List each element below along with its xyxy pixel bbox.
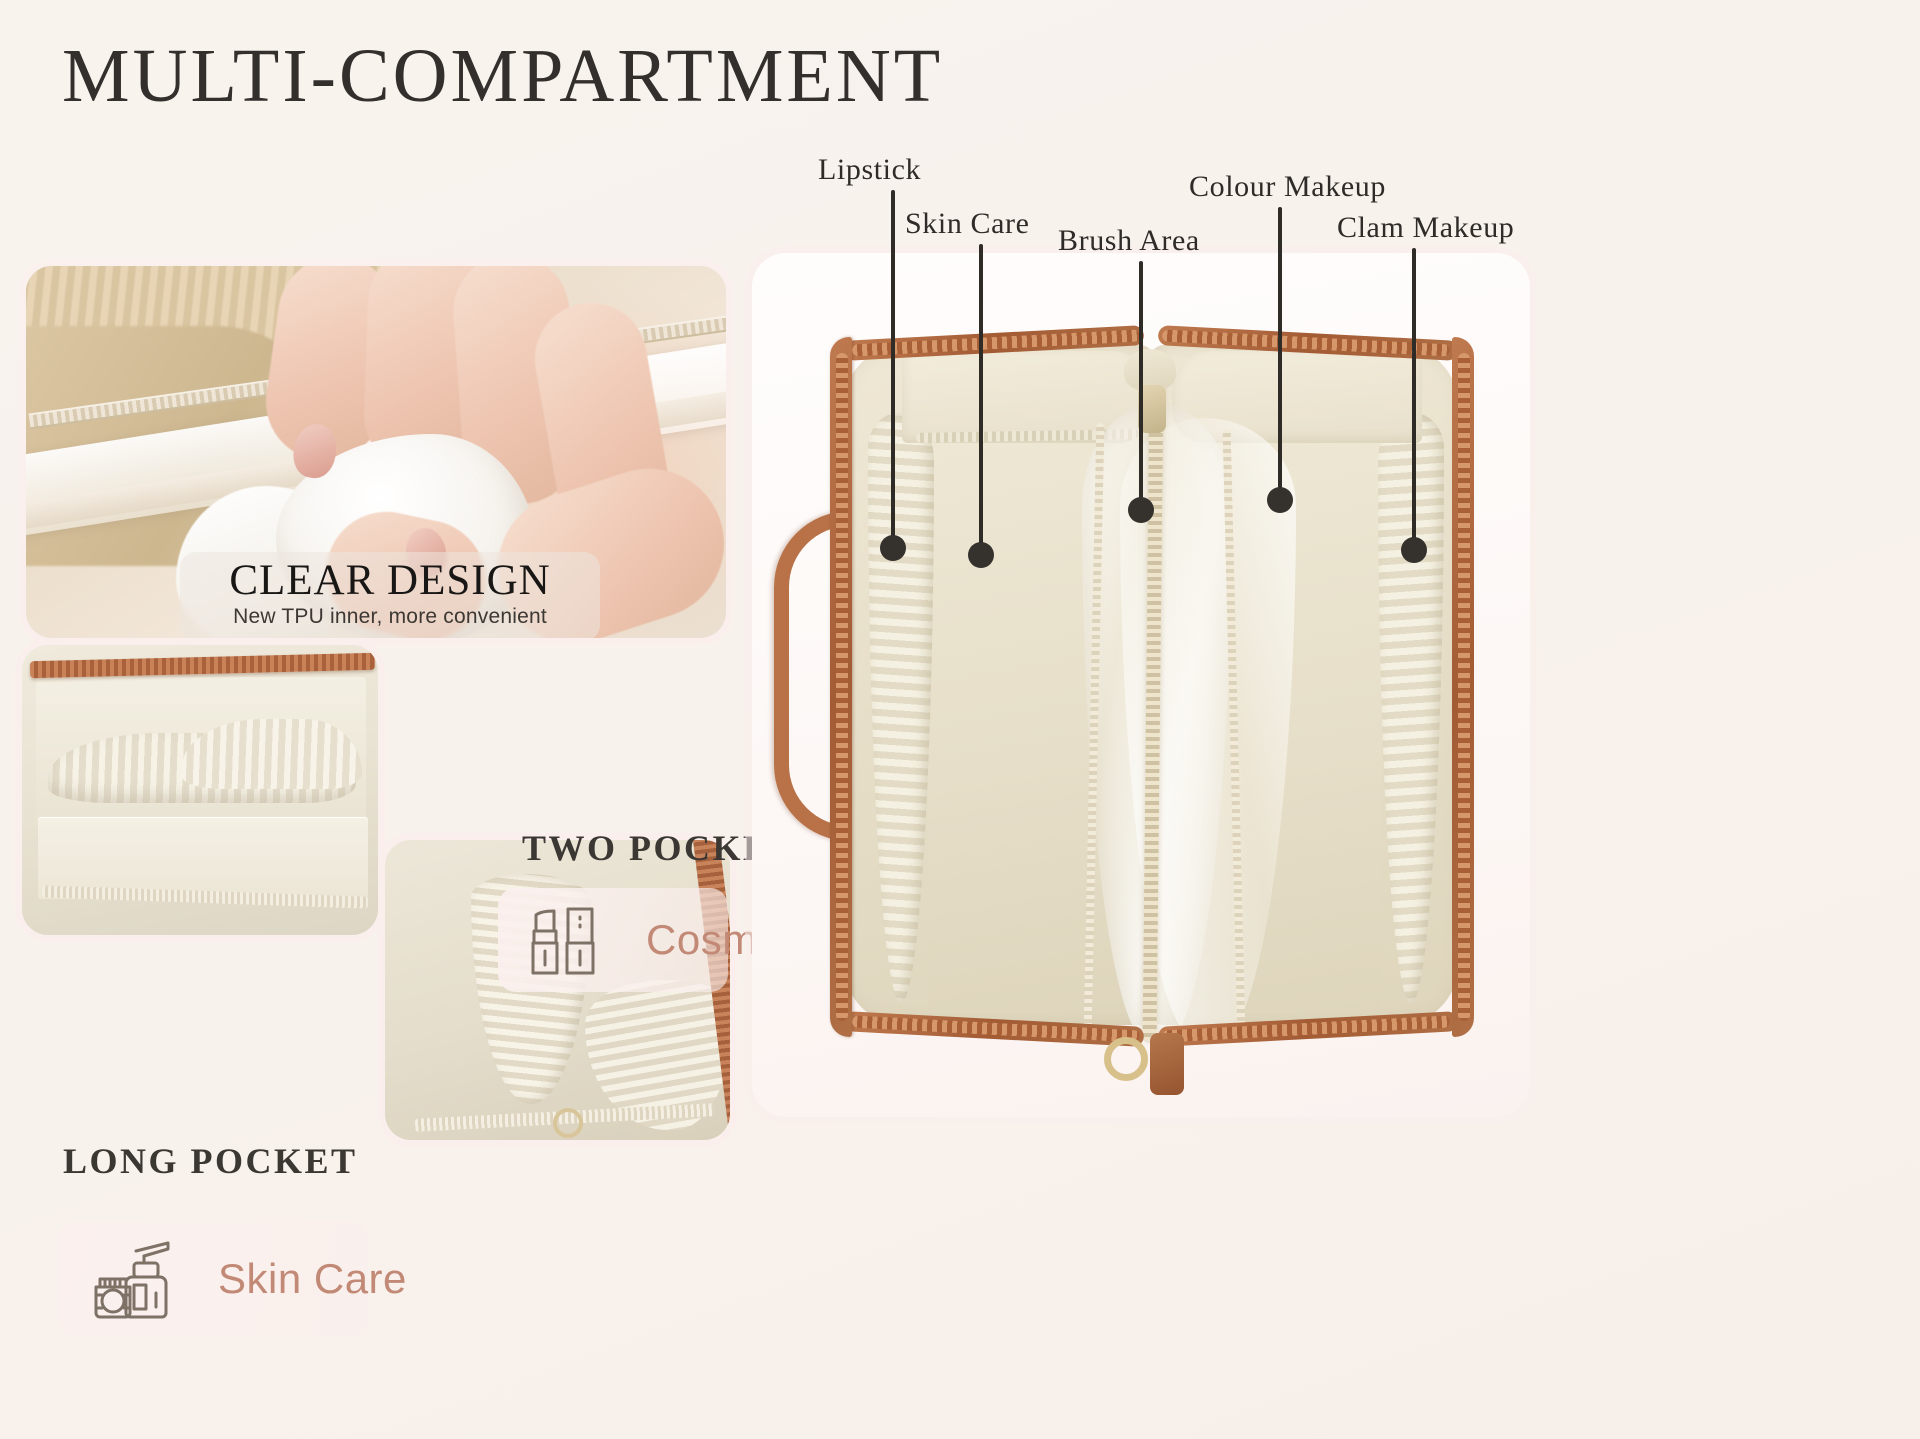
page-title: MULTI-COMPARTMENT xyxy=(62,38,943,114)
long-pocket-interior-photo xyxy=(22,645,378,935)
callout-lipstick-label: Lipstick xyxy=(818,153,921,187)
zipper-teeth-right xyxy=(1458,353,1470,1021)
callout-clam-makeup-label: Clam Makeup xyxy=(1337,211,1514,245)
brown-zipper-shape xyxy=(30,653,375,678)
skin-care-chip-label: Skin Care xyxy=(218,1255,407,1303)
clear-design-title: CLEAR DESIGN xyxy=(196,558,584,603)
callout-colour-makeup-dot xyxy=(1267,487,1293,513)
cosmetics-feature-chip: Cosmetics xyxy=(498,888,728,992)
zipper-teeth-left xyxy=(836,353,848,1021)
callout-clam-makeup-dot xyxy=(1401,537,1427,563)
lipstick-tube-icon xyxy=(520,901,606,979)
callout-brush-area-leader-line xyxy=(1139,261,1143,501)
callout-lipstick-leader-line xyxy=(891,190,895,550)
callout-skin-care-dot xyxy=(968,542,994,568)
zipper-pull-ring-shape xyxy=(553,1108,583,1138)
callout-clam-makeup-leader-line xyxy=(1412,248,1416,543)
zipper-pull-leather-tab xyxy=(1150,1033,1184,1095)
long-pocket-heading: LONG POCKET xyxy=(63,1140,358,1182)
callout-skin-care-label: Skin Care xyxy=(905,207,1030,241)
long-pocket-photo-card xyxy=(22,645,378,935)
clear-design-overlay: CLEAR DESIGN New TPU inner, more conveni… xyxy=(180,552,600,638)
callout-brush-area-dot xyxy=(1128,497,1154,523)
clear-design-photo-card: CLEAR DESIGN New TPU inner, more conveni… xyxy=(26,266,726,638)
callout-colour-makeup-label: Colour Makeup xyxy=(1189,170,1386,204)
callout-skin-care-leader-line xyxy=(979,244,983,549)
callout-brush-area-label: Brush Area xyxy=(1058,224,1200,258)
lotion-pump-jar-icon xyxy=(82,1237,182,1321)
callout-colour-makeup-leader-line xyxy=(1278,207,1282,492)
callout-lipstick-dot xyxy=(880,535,906,561)
zipper-pull-ring xyxy=(1104,1037,1148,1081)
skin-care-feature-chip: Skin Care xyxy=(58,1222,368,1336)
product-infographic-poster: MULTI-COMPARTMENT CLEAR DESIGN New TPU i… xyxy=(0,0,1920,1439)
clear-design-subtitle: New TPU inner, more convenient xyxy=(196,605,584,629)
